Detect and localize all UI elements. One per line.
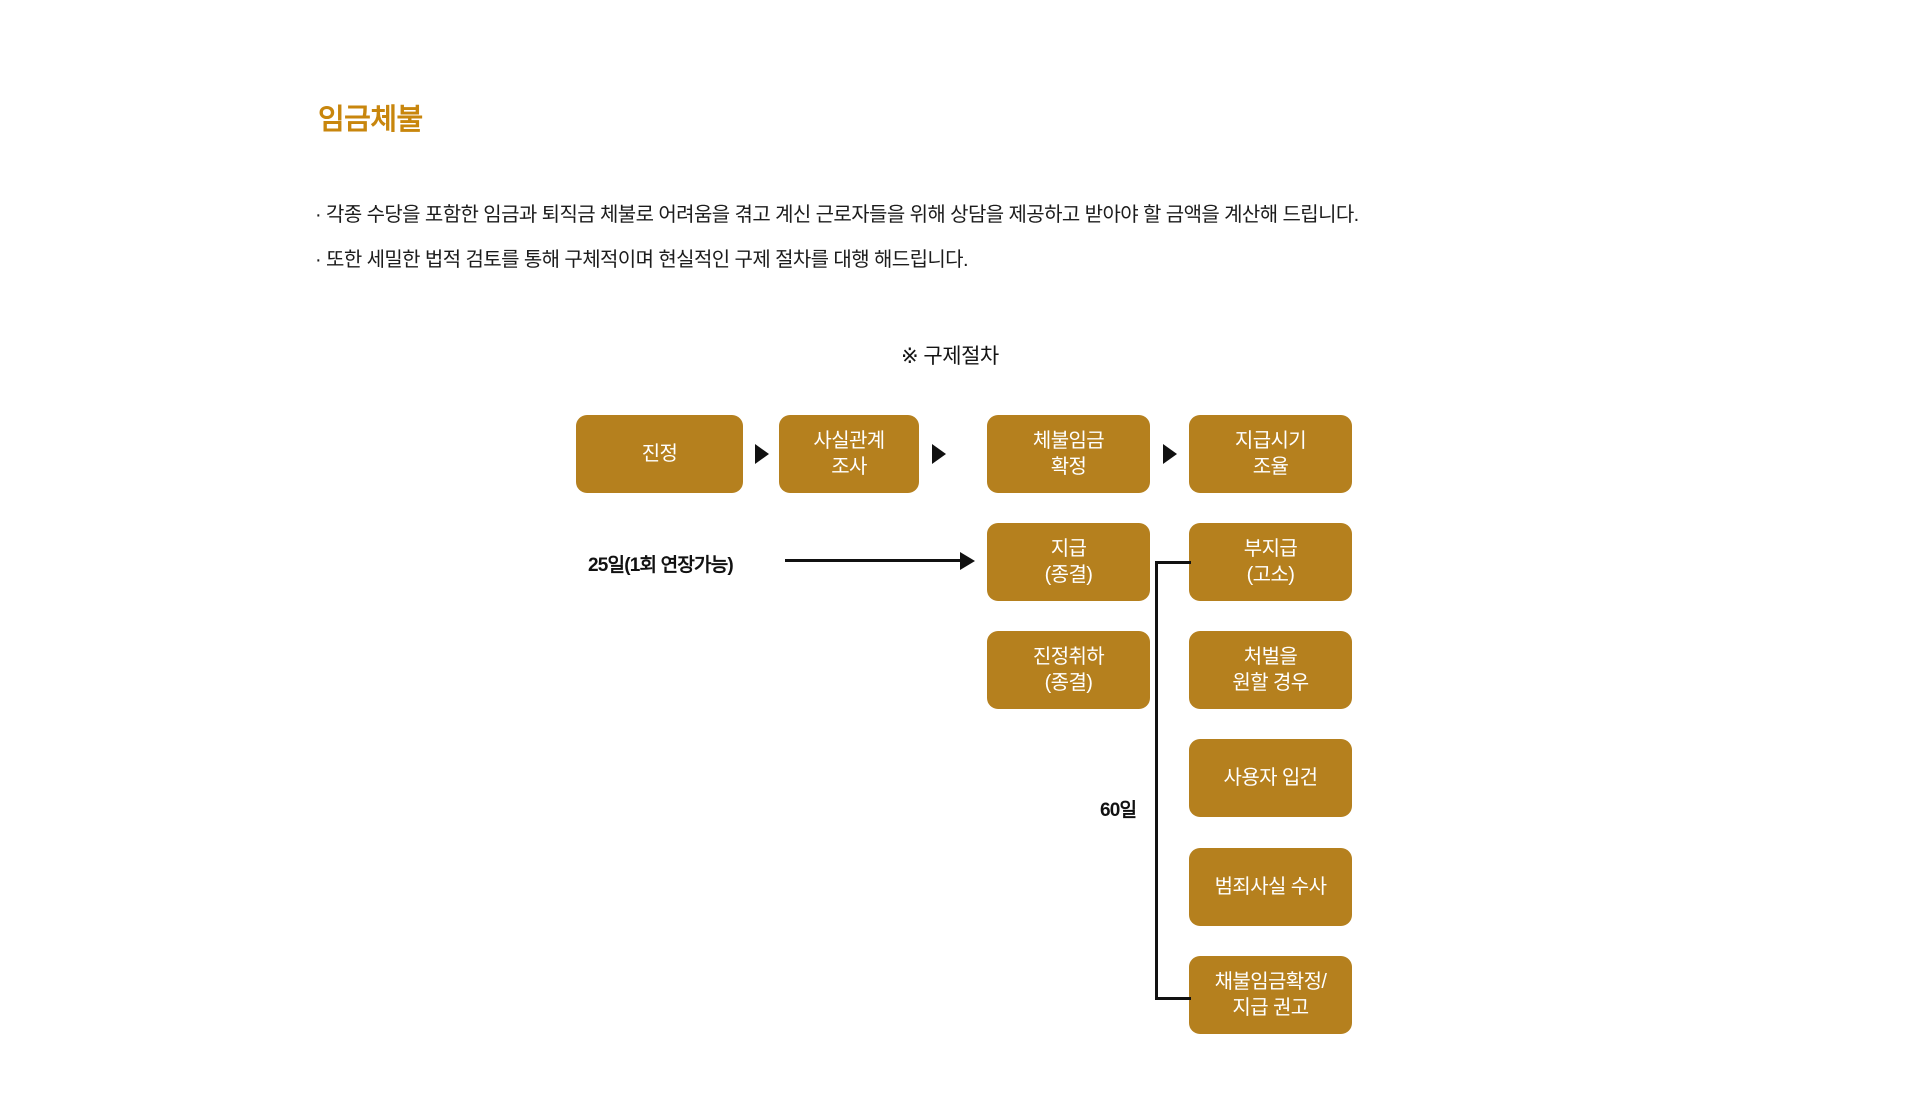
bracket-stub-top	[1155, 561, 1191, 564]
flow-node-cheobeol-wonhal: 처벌을 원할 경우	[1189, 631, 1352, 709]
flow-node-line: 사용자 입건	[1224, 765, 1318, 791]
flow-node-line: 처벌을	[1244, 644, 1297, 670]
triangle-right-icon	[932, 444, 946, 464]
arrow-shaft	[785, 559, 961, 562]
triangle-right-icon	[1163, 444, 1177, 464]
flow-chart-heading: ※ 구제절차	[901, 340, 999, 370]
flow-node-jigeup-jonggyeol: 지급 (종결)	[987, 523, 1150, 601]
relief-procedure-diagram: ※ 구제절차 진정 사실관계 조사 체불임금 확정 지급시기 조율 25일(1회…	[0, 0, 1920, 1114]
flow-node-line: (고소)	[1247, 562, 1295, 588]
flow-node-sasil-gwangye: 사실관계 조사	[779, 415, 919, 493]
flow-node-sayongja-ipgeon: 사용자 입건	[1189, 739, 1352, 817]
flow-node-line: 진정취하	[1033, 644, 1104, 670]
flow-node-line: 조사	[831, 454, 867, 480]
long-arrow-right-icon	[785, 551, 975, 571]
flow-node-chebul-imgeum: 체불임금 확정	[987, 415, 1150, 493]
bracket-spine	[1155, 561, 1158, 1000]
flow-node-line: 진정	[642, 441, 678, 467]
flow-node-line: 지급시기	[1235, 428, 1306, 454]
flow-node-line: 지급	[1051, 536, 1087, 562]
flow-node-line: 확정	[1051, 454, 1087, 480]
flow-node-jigeup-sigi: 지급시기 조율	[1189, 415, 1352, 493]
flow-node-line: 채불임금확정/	[1215, 969, 1327, 995]
flow-node-line: (종결)	[1045, 670, 1093, 696]
flow-node-line: 조율	[1253, 454, 1289, 480]
flow-node-line: 체불임금	[1033, 428, 1104, 454]
flow-node-chaebul-gwongo: 채불임금확정/ 지급 권고	[1189, 956, 1352, 1034]
flow-node-jinjeong-chwiha: 진정취하 (종결)	[987, 631, 1150, 709]
edge-label-60-days: 60일	[1100, 795, 1136, 822]
bracket-stub-bottom	[1155, 997, 1191, 1000]
arrow-head	[960, 552, 975, 570]
flow-node-line: (종결)	[1045, 562, 1093, 588]
flow-node-jinjeong: 진정	[576, 415, 743, 493]
flow-node-line: 지급 권고	[1232, 995, 1308, 1021]
triangle-right-icon	[755, 444, 769, 464]
flow-node-bujigeup-goso: 부지급 (고소)	[1189, 523, 1352, 601]
flow-node-line: 원할 경우	[1232, 670, 1308, 696]
flow-node-beomjoe-susa: 범죄사실 수사	[1189, 848, 1352, 926]
flow-node-line: 사실관계	[813, 428, 884, 454]
edge-label-25-days: 25일(1회 연장가능)	[588, 550, 733, 577]
flow-node-line: 범죄사실 수사	[1215, 874, 1327, 900]
flow-node-line: 부지급	[1244, 536, 1297, 562]
